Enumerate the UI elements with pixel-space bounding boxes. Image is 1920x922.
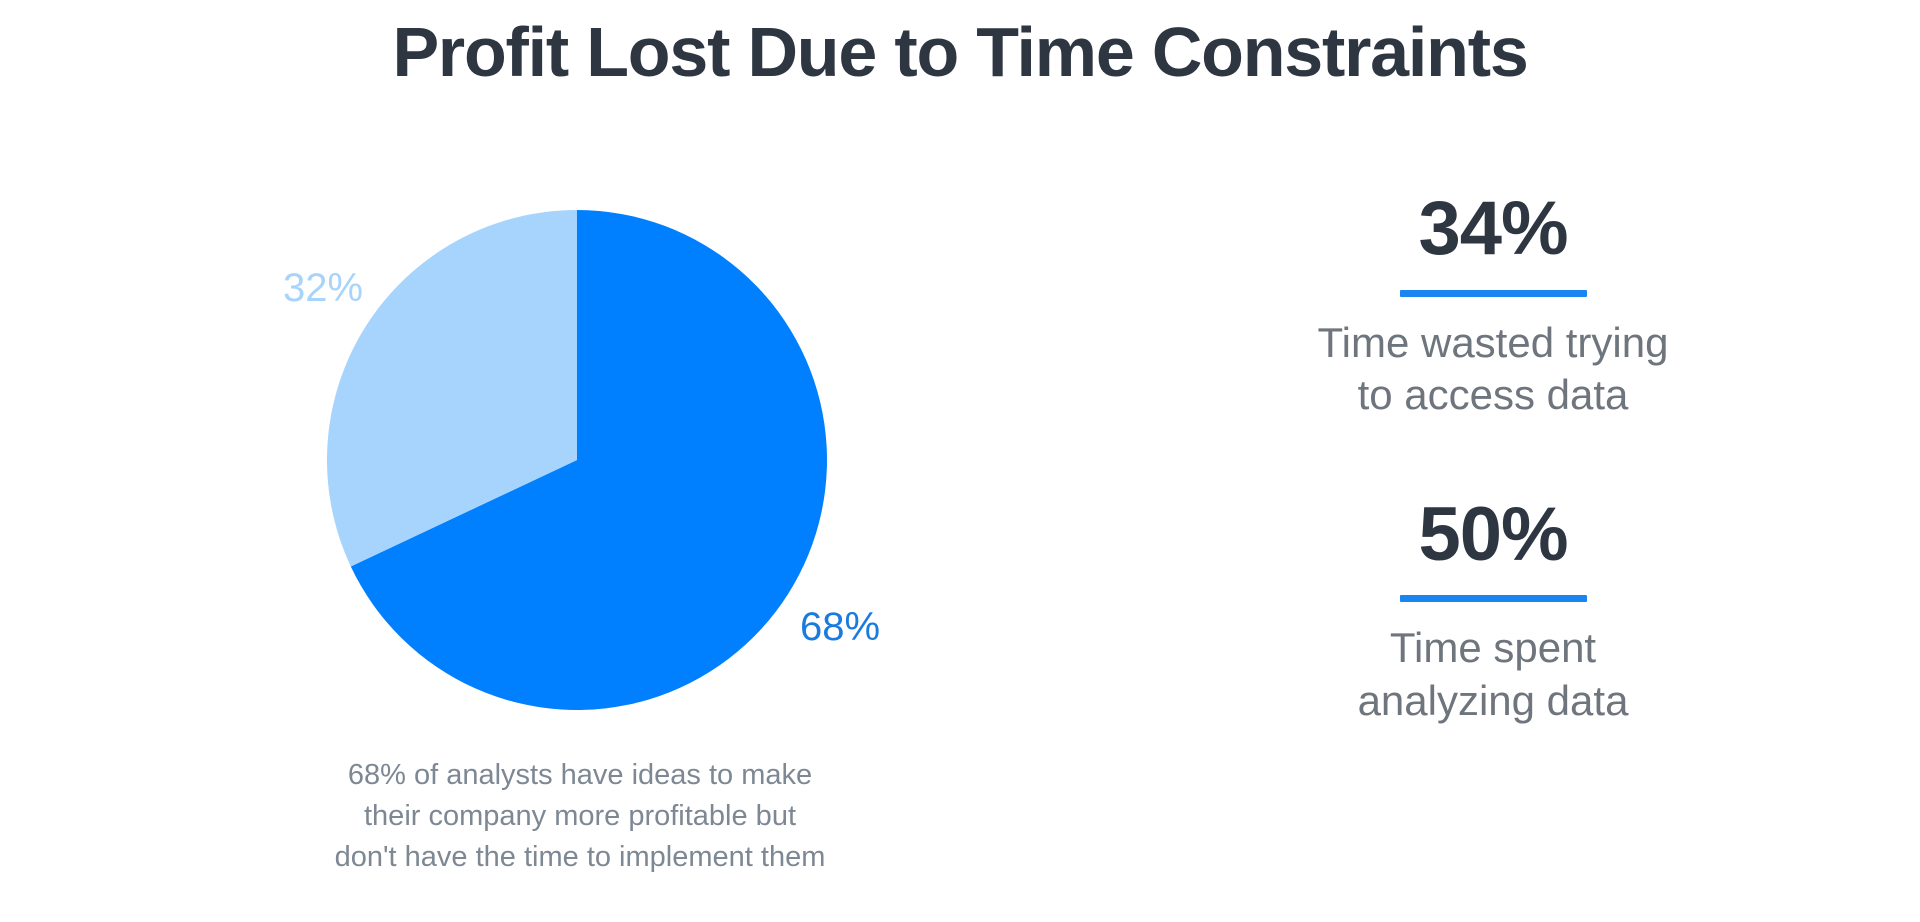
stat-value-50: 50% — [1240, 496, 1746, 574]
pie-caption: 68% of analysts have ideas to make their… — [230, 755, 930, 879]
stat-value-34: 34% — [1240, 190, 1746, 268]
pie-chart-panel: 32% 68% 68% of analysts have ideas to ma… — [0, 0, 1000, 922]
stat-block-time-spent: 50% Time spent analyzing data — [1240, 496, 1746, 728]
pie-label-68: 68% — [800, 607, 880, 647]
stat-block-time-wasted: 34% Time wasted trying to access data — [1240, 190, 1746, 422]
stat-divider-rule — [1400, 290, 1587, 297]
pie-caption-line-3: don't have the time to implement them — [230, 837, 930, 878]
stat-label-line-2: analyzing data — [1240, 675, 1746, 728]
stat-label-time-wasted: Time wasted trying to access data — [1240, 317, 1746, 422]
pie-caption-line-2: their company more profitable but — [230, 796, 930, 837]
pie-chart — [327, 210, 827, 710]
stat-label-time-spent: Time spent analyzing data — [1240, 622, 1746, 727]
stat-label-line-1: Time wasted trying — [1240, 317, 1746, 370]
stat-label-line-2: to access data — [1240, 369, 1746, 422]
stats-panel: 34% Time wasted trying to access data 50… — [1240, 190, 1746, 727]
pie-caption-line-1: 68% of analysts have ideas to make — [230, 755, 930, 796]
stat-label-line-1: Time spent — [1240, 622, 1746, 675]
stat-divider-rule — [1400, 595, 1587, 602]
pie-label-32: 32% — [283, 268, 363, 308]
